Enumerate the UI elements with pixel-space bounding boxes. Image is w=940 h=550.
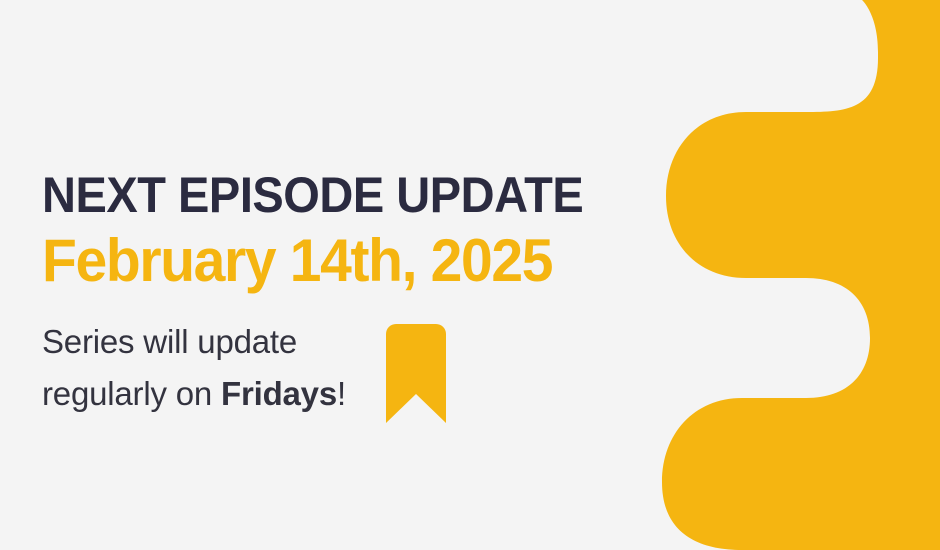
subtitle-text: Series will update regularly on Fridays! bbox=[42, 316, 346, 420]
subtitle-row: Series will update regularly on Fridays! bbox=[42, 316, 722, 423]
page-title: NEXT EPISODE UPDATE bbox=[42, 168, 681, 222]
text-block: NEXT EPISODE UPDATE February 14th, 2025 … bbox=[42, 168, 722, 423]
subtitle-line-2-prefix: regularly on bbox=[42, 375, 221, 412]
subtitle-line-2: regularly on Fridays! bbox=[42, 368, 346, 420]
subtitle-line-2-suffix: ! bbox=[337, 375, 346, 412]
date-headline: February 14th, 2025 bbox=[42, 228, 688, 294]
next-episode-update-banner: NEXT EPISODE UPDATE February 14th, 2025 … bbox=[0, 0, 940, 550]
subtitle-line-2-emphasis: Fridays bbox=[221, 375, 337, 412]
bookmark-icon bbox=[386, 324, 446, 423]
subtitle-line-1: Series will update bbox=[42, 316, 346, 368]
